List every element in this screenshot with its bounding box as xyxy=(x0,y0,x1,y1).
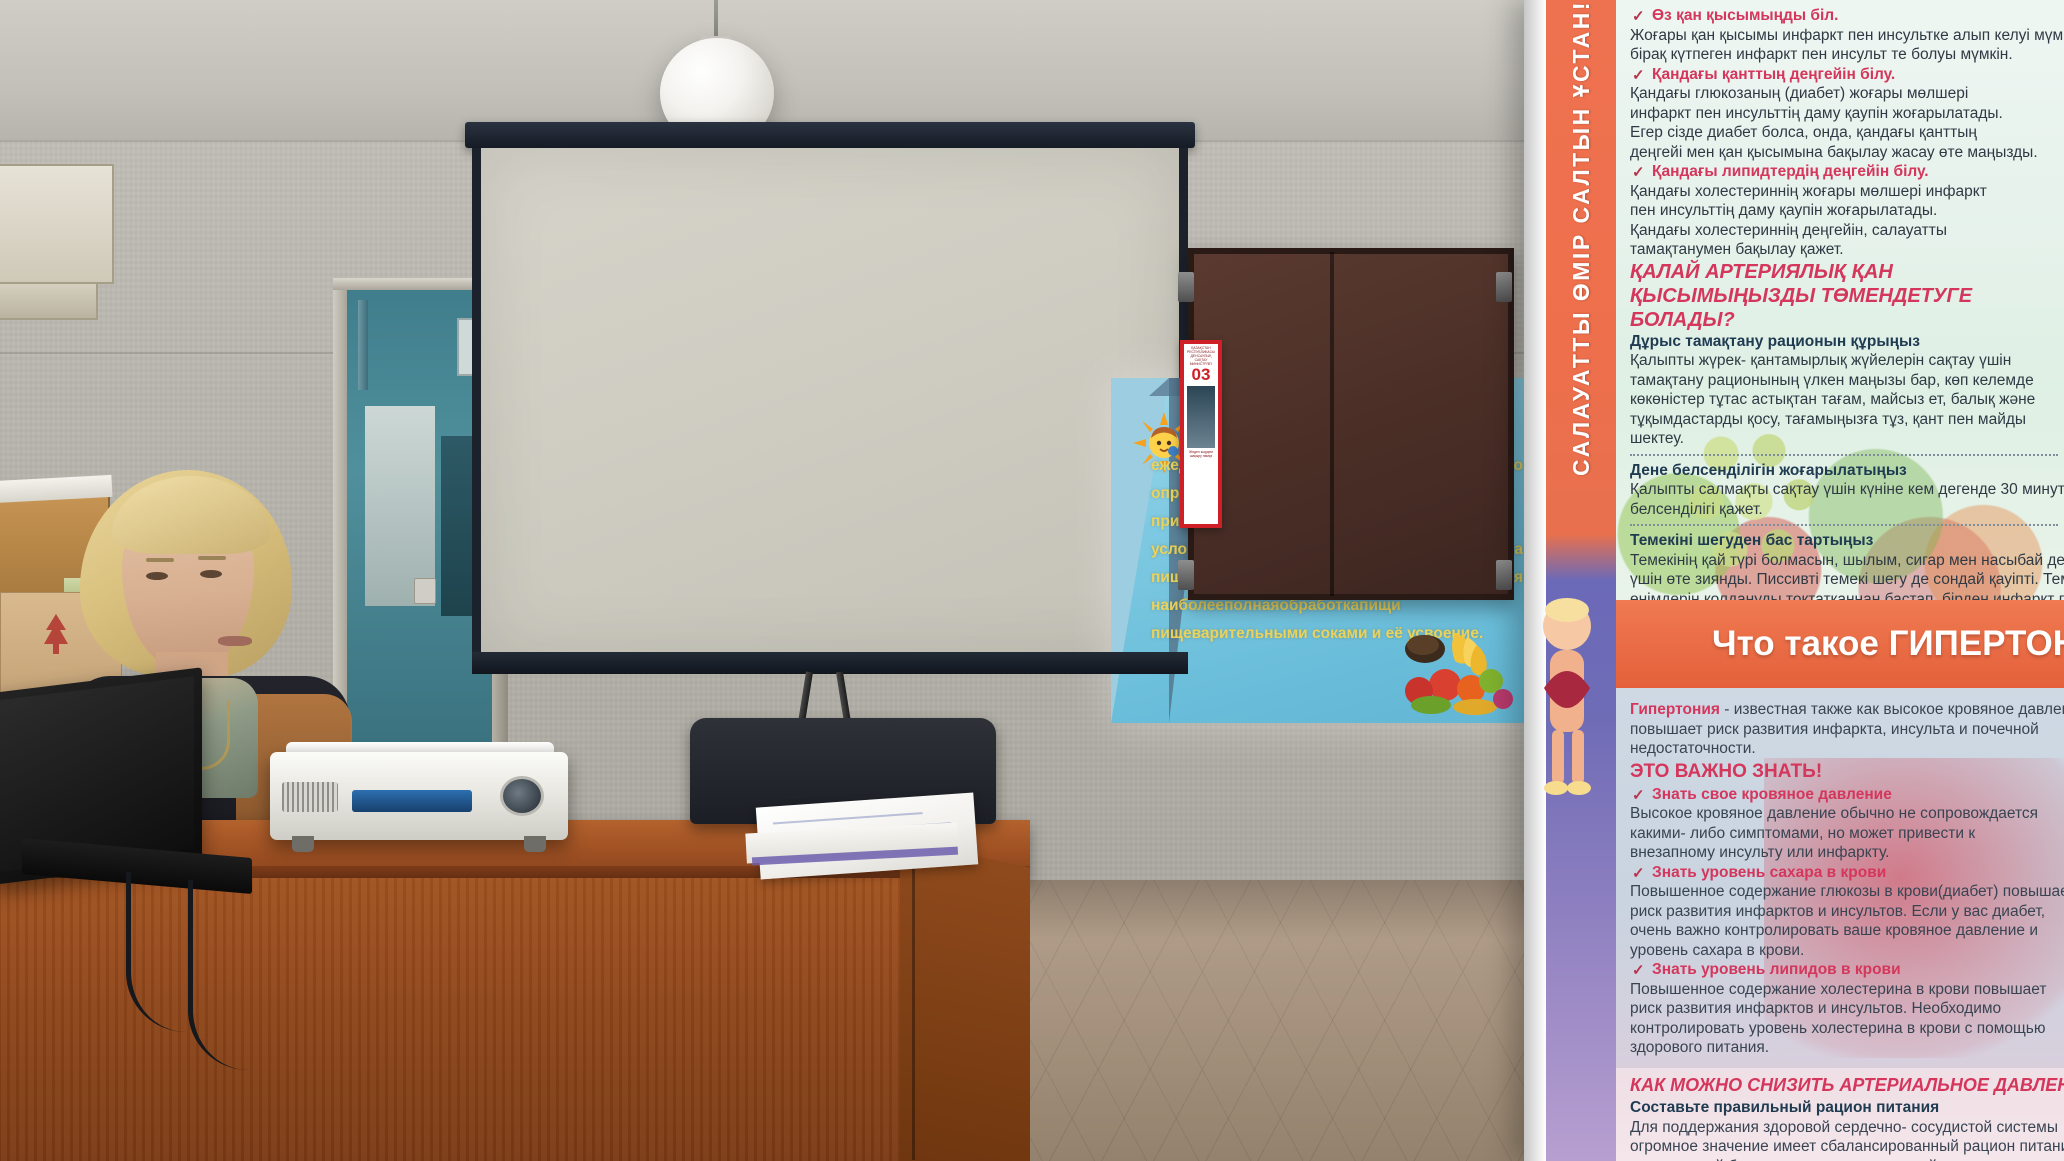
desk-side-panel xyxy=(900,840,1030,1161)
ru-bullet-2-line-0: Повышенное содержание холестерина в кров… xyxy=(1630,980,2064,1000)
desk-panel-seam xyxy=(912,830,915,1160)
projector-lens-icon xyxy=(500,776,544,816)
kz-sub-0-line-2: көкөністер тұтас астықтан тағам, майсыз … xyxy=(1630,390,2064,410)
kz-sub-1-line-1: белсенділігі қажет. xyxy=(1630,500,2064,520)
ru-bullet-1-line-1: риск развития инфарктов и инсультов. Есл… xyxy=(1630,902,2064,922)
ru-intro-line-0: Гипертония - известная также как высокое… xyxy=(1630,700,2064,720)
ru-bullet-0-line-0: Высокое кровяное давление обычно не сопр… xyxy=(1630,804,2064,824)
ru-bullet-0-line-2: внезапному инсульту или инфаркту. xyxy=(1630,843,2064,863)
dotted-divider xyxy=(1630,454,2058,456)
eye-left xyxy=(146,572,168,580)
banner-russian-bottom: КАК МОЖНО СНИЗИТЬ АРТЕРИАЛЬНОЕ ДАВЛЕНИЕ … xyxy=(1616,1068,2064,1161)
kz-sub-2-heading: Темекіні шегуден бас тартыңыз xyxy=(1630,531,2064,551)
kz-bullet-1-line-2: Егер сізде диабет болса, онда, қандағы қ… xyxy=(1630,123,2064,143)
projection-screen: Важен режим питания – ежедневный приём п… xyxy=(472,148,1188,658)
eye-right xyxy=(200,570,222,578)
projection-screen-bottom-bar xyxy=(472,652,1188,674)
health-information-banner: САЛАУАТТЫ ӨМІР САЛТЫН ҰСТАН! ✓ Өз қан қы… xyxy=(1524,0,2064,1161)
kz-sub-1-line-0: Қалыпты салмақты сақтау үшін күніне кем … xyxy=(1630,480,2064,500)
ru-bottom-sub-heading: Составьте правильный рацион питания xyxy=(1630,1098,2064,1118)
ru-bullet-0: ✓ Знать свое кровяное давление xyxy=(1630,785,2064,805)
ru-bottom-line-1: огромное значение имеет сбалансированный… xyxy=(1630,1137,2064,1157)
check-icon: ✓ xyxy=(1632,163,1645,183)
wall-outlet xyxy=(414,578,436,604)
kz-sub-0-line-1: тамақтану рационының үлкен маңызы бар, к… xyxy=(1630,371,2064,391)
ru-bullet-1-heading: Знать уровень сахара в крови xyxy=(1652,864,1886,881)
ru-important-header: ЭТО ВАЖНО ЗНАТЬ! xyxy=(1630,759,2064,785)
kz-bullet-1-line-0: Қандағы глюкозаның (диабет) жоғары мөлше… xyxy=(1630,84,2064,104)
wall-pipe xyxy=(358,300,368,390)
kz-bullet-2-line-2: Қандағы холестериннің деңгейін, салауатт… xyxy=(1630,221,2064,241)
emergency-poster-header: ҚАЗАҚСТАН РЕСПУБЛИКАСЫ ДЕНСАУЛЫҚ САҚТАУ … xyxy=(1184,344,1218,366)
emergency-poster-footer: Жедел жәрдем шақыру нөмірі xyxy=(1184,450,1218,459)
ru-bullet-1-line-3: уровень сахара в крови. xyxy=(1630,941,2064,961)
ru-bullet-1: ✓ Знать уровень сахара в крови xyxy=(1630,863,2064,883)
kz-bullet-0-line-1: бірақ күтпеген инфаркт пен инсульт те бо… xyxy=(1630,45,2064,65)
kz-bullet-2-line-0: Қандағы холестериннің жоғары мөлшері инф… xyxy=(1630,182,2064,202)
kz-bullet-1: ✓ Қандағы қанттың деңгейін білу. xyxy=(1630,65,2064,85)
kz-sub-0-line-0: Қалыпты жүрек- қантамырлық жүйелерін сақ… xyxy=(1630,351,2064,371)
kz-sub-2-line-0: Темекінің қай түрі болмасын, шылым, сига… xyxy=(1630,551,2064,571)
banner-vertical-title-text: САЛАУАТТЫ ӨМІР САЛТЫН ҰСТАН! xyxy=(1568,0,1595,486)
ru-bullet-1-line-0: Повышенное содержание глюкозы в крови(ди… xyxy=(1630,882,2064,902)
emergency-poster-number: 03 xyxy=(1184,366,1218,384)
ru-intro-line-1: повышает риск развития инфаркта, инсульт… xyxy=(1630,720,2064,740)
check-icon: ✓ xyxy=(1632,961,1645,981)
banner-vertical-title: САЛАУАТТЫ ӨМІР САЛТЫН ҰСТАН! xyxy=(1546,0,1616,1161)
kz-bullet-0-heading: Өз қан қысымыңды біл. xyxy=(1652,7,1838,24)
kz-sub-2-line-2: өнімдерін қолдануды тоқтатқаннан бастап,… xyxy=(1630,590,2064,601)
wall-cabinet-lower xyxy=(0,282,98,320)
ru-intro-rest: - известная также как высокое кровяное д… xyxy=(1720,701,2064,718)
ru-bottom-header: КАК МОЖНО СНИЗИТЬ АРТЕРИАЛЬНОЕ ДАВЛЕНИЕ xyxy=(1630,1072,2064,1098)
board-clip xyxy=(1178,272,1194,302)
projector-vent xyxy=(282,782,338,812)
child-holding-heart-icon xyxy=(1528,592,1606,802)
projector-cable xyxy=(188,880,298,1070)
board-clip xyxy=(1496,272,1512,302)
kazakh-text-block: ✓ Өз қан қысымыңды біл. Жоғары қан қысым… xyxy=(1616,0,2064,600)
ru-bullet-0-line-1: какими- либо симптомами, но может привес… xyxy=(1630,824,2064,844)
ru-bottom-line-0: Для поддержания здоровой сердечно- сосуд… xyxy=(1630,1118,2064,1138)
check-icon: ✓ xyxy=(1632,7,1645,27)
kz-bullet-1-heading: Қандағы қанттың деңгейін білу. xyxy=(1652,66,1895,83)
ru-bottom-line-2: включающий большое количество овощей, це… xyxy=(1630,1157,2064,1161)
kz-bullet-2: ✓ Қандағы липидтердің деңгейін білу. xyxy=(1630,162,2064,182)
eyebrow-left xyxy=(146,558,174,562)
ru-intro-line-2: недостаточности. xyxy=(1630,739,2064,759)
kz-bullet-2-heading: Қандағы липидтердің деңгейін білу. xyxy=(1652,163,1929,180)
russian-text-block: Гипертония - известная также как высокое… xyxy=(1616,688,2064,1058)
kz-bullet-1-line-1: инфаркт пен инсульттің даму қаупін жоғар… xyxy=(1630,104,2064,124)
banner-spine-shadow xyxy=(1524,0,1546,1161)
kz-bullet-1-line-3: деңгейі мен қан қысымына бақылау жасау ө… xyxy=(1630,143,2064,163)
check-icon: ✓ xyxy=(1632,864,1645,884)
check-icon: ✓ xyxy=(1632,66,1645,86)
kz-bullet-0-line-0: Жоғары қан қысымы инфаркт пен инсультке … xyxy=(1630,26,2064,46)
board-divider xyxy=(1330,252,1334,596)
russian-bottom-text-block: КАК МОЖНО СНИЗИТЬ АРТЕРИАЛЬНОЕ ДАВЛЕНИЕ … xyxy=(1616,1068,2064,1161)
kz-sub-0-heading: Дұрыс тамақтану рационын құрыңыз xyxy=(1630,332,2064,352)
check-icon: ✓ xyxy=(1632,786,1645,806)
ru-bullet-2: ✓ Знать уровень липидов в крови xyxy=(1630,960,2064,980)
kz-bullet-2-line-3: тамақтанумен бақылау қажет. xyxy=(1630,240,2064,260)
projector-foot xyxy=(292,836,314,852)
kz-sub-0-line-4: шектеу. xyxy=(1630,429,2064,449)
wall-mounted-board xyxy=(1188,248,1514,600)
ru-bullet-2-heading: Знать уровень липидов в крови xyxy=(1652,961,1901,978)
room-scene: Важен режим питания – ежедневный приём п… xyxy=(0,0,2064,1161)
mouth xyxy=(218,636,252,646)
banner-kazakh-section: ✓ Өз қан қысымыңды біл. Жоғары қан қысым… xyxy=(1616,0,2064,600)
ru-bullet-0-heading: Знать свое кровяное давление xyxy=(1652,786,1892,803)
dotted-divider xyxy=(1630,524,2058,526)
kz-bullet-2-line-1: пен инсульттің даму қаупін жоғарылатады. xyxy=(1630,201,2064,221)
emergency-poster-image xyxy=(1187,386,1215,448)
paper-line xyxy=(773,812,923,824)
kz-sub-0-line-3: тұқымдастарды қосу, тағамыңызға тұз, қан… xyxy=(1630,410,2064,430)
ru-bullet-1-line-2: очень важно контролировать ваше кровяное… xyxy=(1630,921,2064,941)
ru-bullet-2-line-1: риск развития инфарктов и инсультов. Нео… xyxy=(1630,999,2064,1019)
kz-sub-2-line-1: үшін өте зиянды. Писсивті темекі шегу де… xyxy=(1630,570,2064,590)
ru-bullet-2-line-3: здорового питания. xyxy=(1630,1038,2064,1058)
fruits-and-vegetables-illustration xyxy=(1383,623,1523,719)
kz-section-header: ҚАЛАЙ АРТЕРИЯЛЫҚ ҚАН ҚЫСЫМЫҢЫЗДЫ ТӨМЕНДЕ… xyxy=(1630,260,2030,332)
projector-ports[interactable] xyxy=(352,790,472,812)
kz-sub-1-heading: Дене белсенділігін жоғарылатыңыз xyxy=(1630,461,2064,481)
wall-cabinet xyxy=(0,164,114,284)
eyebrow-right xyxy=(198,556,226,560)
board-clip xyxy=(1178,560,1194,590)
projector-foot xyxy=(524,836,546,852)
banner-russian-body: Гипертония - известная также как высокое… xyxy=(1616,688,2064,1068)
projection-screen-case xyxy=(465,122,1195,148)
board-clip xyxy=(1496,560,1512,590)
banner-russian-header: Что такое ГИПЕРТОНИЯ? xyxy=(1616,600,2064,688)
kz-bullet-0: ✓ Өз қан қысымыңды біл. xyxy=(1630,6,2064,26)
emergency-poster-03: ҚАЗАҚСТАН РЕСПУБЛИКАСЫ ДЕНСАУЛЫҚ САҚТАУ … xyxy=(1180,340,1222,528)
ru-bullet-2-line-2: контролировать уровень холестерина в кро… xyxy=(1630,1019,2064,1039)
russian-section-title: Что такое ГИПЕРТОНИЯ? xyxy=(1616,624,2064,664)
ru-intro-lead: Гипертония xyxy=(1630,701,1720,718)
